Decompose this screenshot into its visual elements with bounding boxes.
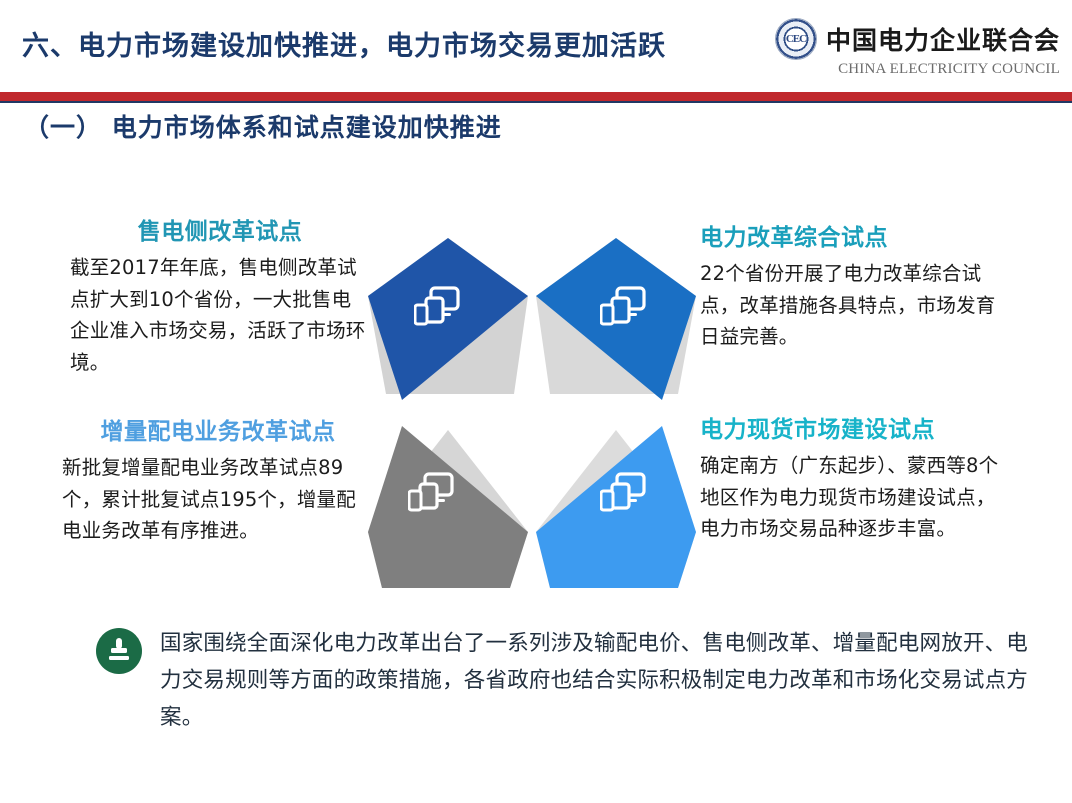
responsive-devices-icon	[600, 472, 646, 512]
brand-row: 中国电力企业联合会	[775, 18, 1060, 60]
page-title: 六、电力市场建设加快推进，电力市场交易更加活跃	[22, 24, 666, 63]
responsive-devices-icon	[408, 472, 454, 512]
slide-header: 六、电力市场建设加快推进，电力市场交易更加活跃 中国电力企业联合会 CHINA …	[0, 0, 1072, 92]
quadrant-spot-market: 电力现货市场建设试点 确定南方（广东起步）、蒙西等8个地区作为电力现货市场建设试…	[700, 410, 1000, 545]
header-rule-red	[0, 92, 1072, 101]
pentagon-bottom-left[interactable]	[362, 410, 534, 592]
quadrant-body-comprehensive-reform: 22个省份开展了电力改革综合试点，改革措施各具特点，市场发育日益完善。	[700, 258, 1000, 353]
quadrant-body-incremental-distribution: 新批复增量配电业务改革试点89个，累计批复试点195个，增量配电业务改革有序推进…	[62, 452, 374, 547]
section-subtitle: （一） 电力市场体系和试点建设加快推进	[24, 108, 502, 144]
brand-logo: 中国电力企业联合会 CHINA ELECTRICITY COUNCIL	[775, 18, 1060, 78]
brand-name-en: CHINA ELECTRICITY COUNCIL	[838, 61, 1060, 78]
footer-note: 国家围绕全面深化电力改革出台了一系列涉及输配电价、售电侧改革、增量配电网放开、电…	[96, 626, 1036, 737]
quadrant-incremental-distribution: 增量配电业务改革试点 新批复增量配电业务改革试点89个，累计批复试点195个，增…	[62, 412, 374, 547]
quadrant-heading-incremental-distribution: 增量配电业务改革试点	[62, 412, 374, 446]
quadrant-body-retail-reform: 截至2017年年底，售电侧改革试点扩大到10个省份，一大批售电企业准入市场交易，…	[70, 252, 370, 378]
pentagon-top-right[interactable]	[530, 234, 702, 416]
responsive-devices-icon	[414, 286, 460, 326]
quadrant-body-spot-market: 确定南方（广东起步）、蒙西等8个地区作为电力现货市场建设试点，电力市场交易品种逐…	[700, 450, 1000, 545]
footer-note-text: 国家围绕全面深化电力改革出台了一系列涉及输配电价、售电侧改革、增量配电网放开、电…	[160, 626, 1036, 737]
header-rule-navy	[0, 101, 1072, 103]
brand-name-cn: 中国电力企业联合会	[826, 21, 1060, 57]
stamp-approve-icon	[96, 628, 142, 674]
quadrant-heading-comprehensive-reform: 电力改革综合试点	[700, 218, 1000, 252]
quadrant-heading-retail-reform: 售电侧改革试点	[70, 212, 370, 246]
quadrant-retail-reform: 售电侧改革试点 截至2017年年底，售电侧改革试点扩大到10个省份，一大批售电企…	[70, 212, 370, 378]
pentagon-bottom-right[interactable]	[530, 410, 702, 592]
quadrant-heading-spot-market: 电力现货市场建设试点	[700, 410, 1000, 444]
cec-seal-icon	[775, 18, 817, 60]
responsive-devices-icon	[600, 286, 646, 326]
pentagon-cluster-diagram	[362, 234, 702, 592]
quadrant-comprehensive-reform: 电力改革综合试点 22个省份开展了电力改革综合试点，改革措施各具特点，市场发育日…	[700, 218, 1000, 353]
pentagon-top-left[interactable]	[362, 234, 534, 416]
